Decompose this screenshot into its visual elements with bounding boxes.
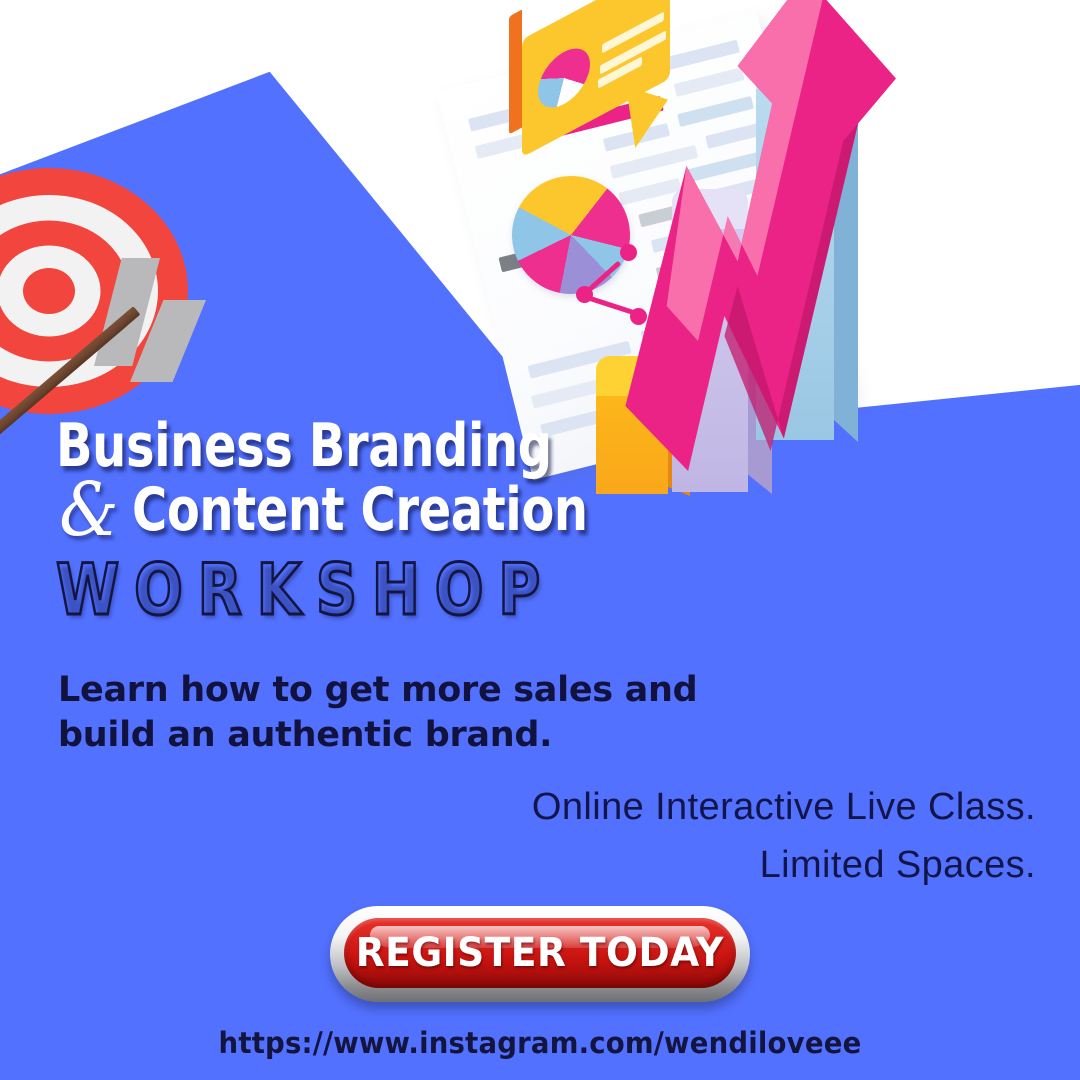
headline-line-2: Content Creation (132, 478, 588, 542)
growth-arrow-icon (566, 0, 896, 476)
details-line-2: Limited Spaces. (416, 836, 1036, 894)
promotional-poster: Business Branding & Content Creation WOR… (0, 0, 1080, 1080)
headline-row-2: & Content Creation (56, 478, 696, 542)
subheading-block: Learn how to get more sales and build an… (58, 668, 698, 758)
target-bullseye (23, 268, 75, 314)
target-with-arrow-icon (0, 166, 190, 416)
register-button-label: REGISTER TODAY (356, 930, 724, 976)
headline-workshop: WORKSHOP (56, 548, 581, 632)
headline-line-1: Business Branding (56, 414, 568, 478)
details-line-1: Online Interactive Live Class. (416, 778, 1036, 836)
subheading-line-1: Learn how to get more sales and (58, 668, 698, 713)
register-today-button[interactable]: REGISTER TODAY (330, 906, 750, 1002)
headline-block: Business Branding & Content Creation WOR… (56, 414, 696, 632)
ampersand-glyph: & (59, 478, 118, 542)
subheading-line-2: build an authentic brand. (58, 713, 698, 758)
instagram-url[interactable]: https://www.instagram.com/wendiloveee (27, 1026, 1053, 1060)
speech-bubble-side (509, 10, 522, 135)
button-face: REGISTER TODAY (344, 918, 736, 988)
details-block: Online Interactive Live Class. Limited S… (416, 778, 1036, 894)
